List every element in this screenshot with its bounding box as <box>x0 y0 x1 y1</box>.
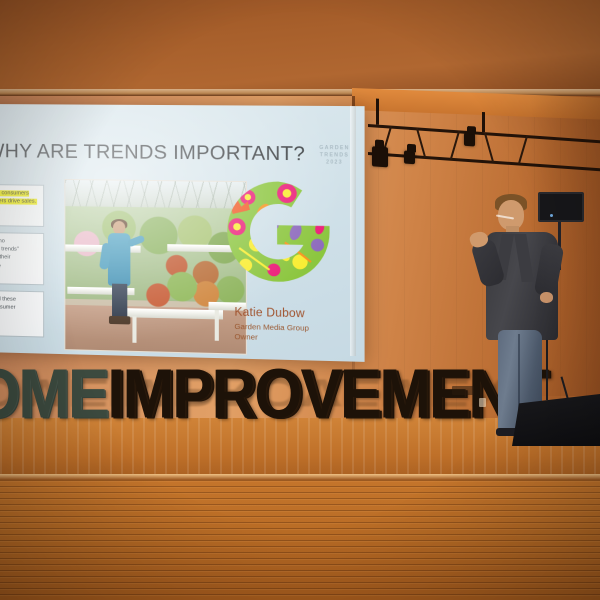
letter-glyph: M <box>18 363 68 428</box>
credit-role: Owner <box>234 332 309 344</box>
truss-post <box>376 99 379 125</box>
watermark-line: 2023 <box>319 159 349 167</box>
slide-callout-3: We want to fill these emerging consumer … <box>0 290 44 338</box>
letter-glyph: M <box>379 363 429 428</box>
callout-line: own language <box>0 261 38 271</box>
ceiling <box>0 0 600 96</box>
projection-screen: WHY ARE TRENDS IMPORTANT? GARDEN TRENDS … <box>0 104 365 362</box>
person-in-photo <box>100 221 139 329</box>
stage-photo-scene: WHY ARE TRENDS IMPORTANT? GARDEN TRENDS … <box>0 0 600 600</box>
callout-line: emerging consumer <box>0 303 38 313</box>
letter-glyph: E <box>340 363 379 428</box>
letter-glyph: E <box>68 363 107 428</box>
truss-brace <box>484 133 494 163</box>
stage-floor-box <box>452 386 474 395</box>
letter-glyph: O <box>254 363 300 428</box>
bench-leg <box>215 310 219 341</box>
letter-glyph: E <box>429 363 468 428</box>
stage-light-icon <box>404 151 415 165</box>
slide-callout-1: Trends drive consumers and consumers dri… <box>0 184 44 227</box>
credit-name: Katie Dubow <box>234 305 309 321</box>
letter-glyph: R <box>212 363 255 428</box>
truss-post <box>482 112 485 132</box>
person-legs <box>112 284 127 319</box>
letter-glyph: P <box>172 363 211 428</box>
callout-line: demands. <box>0 311 38 321</box>
slide-callout-2: Customers who are "living the trends" ar… <box>0 232 44 286</box>
stage-light-icon <box>464 133 475 147</box>
garden-media-g-logo-icon <box>224 177 333 287</box>
presentation-slide: WHY ARE TRENDS IMPORTANT? GARDEN TRENDS … <box>0 104 365 362</box>
callout-line: are speaking their <box>0 253 38 263</box>
stage-3d-letters: O M E I M P R O V E M E N T <box>0 352 492 424</box>
stage-front-panel <box>0 480 600 600</box>
presenter-hand-left <box>540 292 553 303</box>
truss-brace <box>518 135 528 164</box>
slide-headline: WHY ARE TRENDS IMPORTANT? <box>0 140 305 166</box>
letter-glyph: V <box>301 363 340 428</box>
screen-right-edge <box>350 106 356 356</box>
stage-light-icon <box>372 146 388 167</box>
letter-glyph: M <box>122 363 172 428</box>
greenhouse-photo <box>64 179 247 355</box>
person-shoes <box>109 316 130 325</box>
truss-brace <box>416 128 426 158</box>
letter-glyph: O <box>0 363 18 428</box>
slide-watermark: GARDEN TRENDS 2023 <box>319 145 349 167</box>
truss-brace <box>450 131 460 160</box>
slide-speaker-credit: Katie Dubow Garden Media Group Owner <box>234 305 309 343</box>
callout-line: consumers drive sales. <box>0 198 37 205</box>
letter-glyph: I <box>107 363 122 428</box>
